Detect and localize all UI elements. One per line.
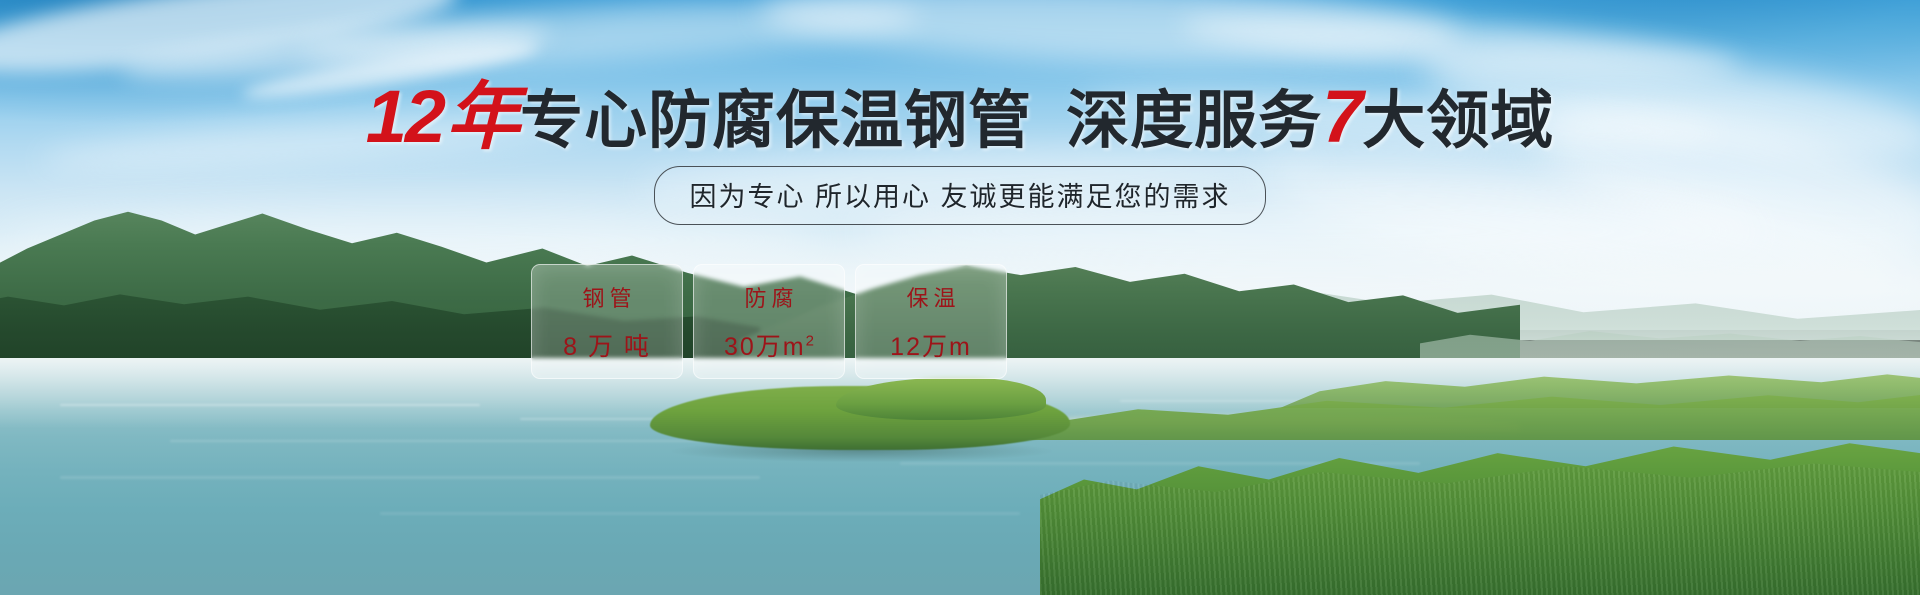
stat-card-group: 钢管 8 万 吨 防腐 30万m2 保温 12万m — [531, 264, 1007, 379]
stat-value-text: 30万m — [724, 333, 806, 361]
headline-main-text: 专心防腐保温钢管 — [520, 86, 1032, 156]
promo-banner: 12年专心防腐保温钢管深度服务7大领域 因为专心 所以用心 友诚更能满足您的需求… — [0, 0, 1920, 595]
stat-card-steel-pipe[interactable]: 钢管 8 万 吨 — [531, 264, 683, 379]
stat-card-title: 保温 — [901, 281, 960, 313]
stat-card-title: 防腐 — [739, 281, 798, 313]
stat-value-text: 8 万 吨 — [563, 333, 651, 361]
headline-fields-suffix: 大领域 — [1362, 86, 1554, 156]
stat-value-text: 12万m — [890, 333, 972, 361]
stat-card-value: 30万m2 — [724, 327, 814, 363]
banner-content: 12年专心防腐保温钢管深度服务7大领域 因为专心 所以用心 友诚更能满足您的需求… — [0, 0, 1920, 595]
headline-years-unit: 年 — [446, 75, 518, 158]
banner-headline: 12年专心防腐保温钢管深度服务7大领域 — [0, 80, 1920, 154]
headline-fields-number: 7 — [1322, 75, 1362, 158]
banner-subtitle: 因为专心 所以用心 友诚更能满足您的需求 — [654, 166, 1265, 225]
stat-card-title: 钢管 — [577, 281, 636, 313]
subtitle-container: 因为专心 所以用心 友诚更能满足您的需求 — [0, 166, 1920, 225]
stat-card-anticorrosion[interactable]: 防腐 30万m2 — [693, 264, 845, 379]
headline-years-number: 12 — [366, 75, 444, 158]
headline-second-text: 深度服务 — [1066, 86, 1322, 156]
stat-card-value: 8 万 吨 — [563, 327, 651, 363]
stat-card-value: 12万m — [890, 327, 972, 363]
stat-card-insulation[interactable]: 保温 12万m — [855, 264, 1007, 379]
stat-value-superscript: 2 — [806, 332, 814, 349]
